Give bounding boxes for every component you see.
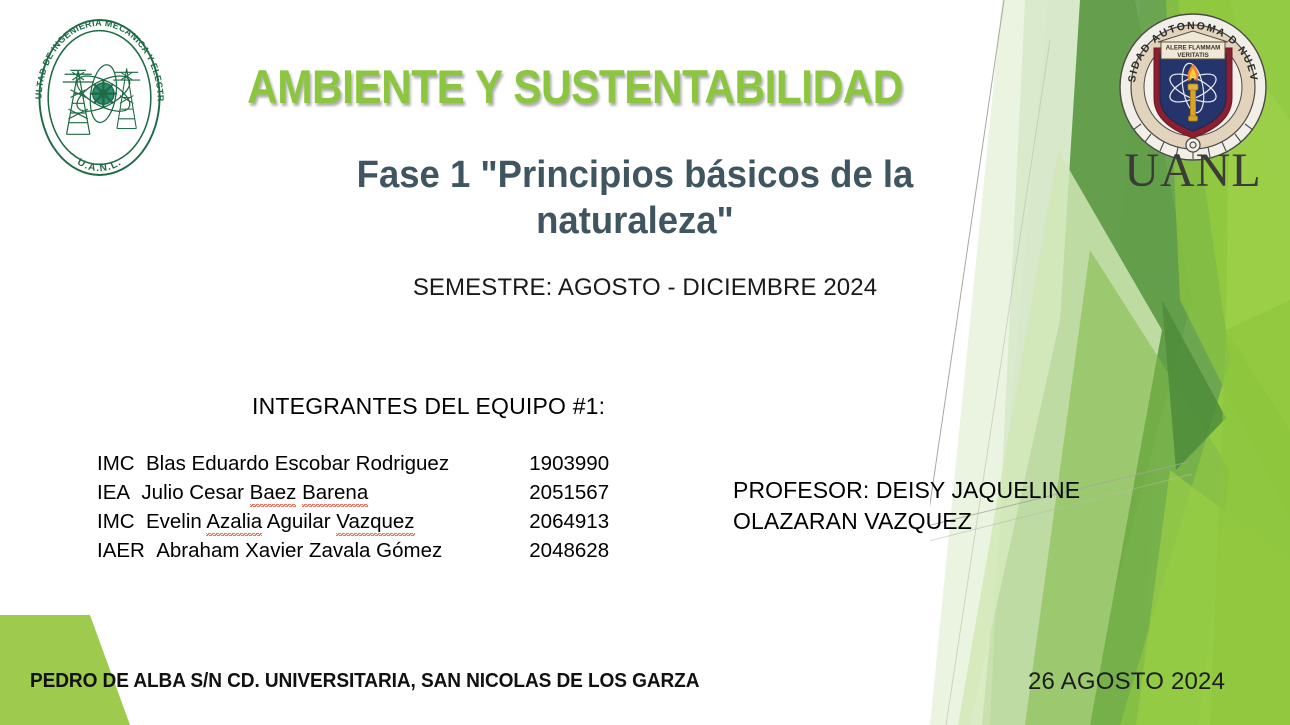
fime-logo: FACULTAD DE INGENIERIA MECANICA Y ELECTR… [22, 12, 177, 182]
member-name: IEA Julio Cesar Baez Barena [97, 479, 505, 508]
table-row: IMC Evelin Azalia Aguilar Vazquez 206491… [97, 508, 609, 537]
professor-block: PROFESOR: DEISY JAQUELINE OLAZARAN VAZQU… [733, 475, 1133, 536]
professor-line-2: OLAZARAN VAZQUEZ [733, 506, 1133, 537]
member-id: 2051567 [505, 479, 609, 508]
team-heading: INTEGRANTES DEL EQUIPO #1: [252, 393, 605, 420]
semester-label: SEMESTRE: AGOSTO - DICIEMBRE 2024 [300, 274, 990, 302]
table-row: IEA Julio Cesar Baez Barena 2051567 [97, 479, 609, 508]
table-row: IAER Abraham Xavier Zavala Gómez 2048628 [97, 537, 609, 566]
member-id: 1903990 [505, 450, 609, 479]
team-members-table: IMC Blas Eduardo Escobar Rodriguez 19039… [97, 450, 609, 566]
table-row: IMC Blas Eduardo Escobar Rodriguez 19039… [97, 450, 609, 479]
footer-date: 26 AGOSTO 2024 [1028, 668, 1225, 696]
professor-line-1: PROFESOR: DEISY JAQUELINE [733, 475, 1133, 506]
member-name: IAER Abraham Xavier Zavala Gómez [97, 537, 505, 566]
member-id: 2048628 [505, 537, 609, 566]
uanl-motto-line2: VERITATIS [1177, 52, 1208, 59]
member-name: IMC Evelin Azalia Aguilar Vazquez [97, 508, 505, 537]
uanl-motto-line1: ALERE FLAMMAM [1166, 45, 1221, 52]
presentation-slide: FACULTAD DE INGENIERIA MECANICA Y ELECTR… [0, 0, 1290, 725]
member-name: IMC Blas Eduardo Escobar Rodriguez [97, 450, 505, 479]
member-id: 2064913 [505, 508, 609, 537]
page-title: AMBIENTE Y SUSTENTABILIDAD [220, 62, 931, 111]
footer-address: PEDRO DE ALBA S/N CD. UNIVERSITARIA, SAN… [30, 669, 699, 693]
uanl-wordmark: UANL [1095, 147, 1290, 195]
uanl-seal: UNIVERSIDAD AUTONOMA D NUEVO LEON ALERE … [1118, 12, 1268, 162]
page-subtitle: Fase 1 "Principios básicos de la natural… [294, 152, 976, 245]
